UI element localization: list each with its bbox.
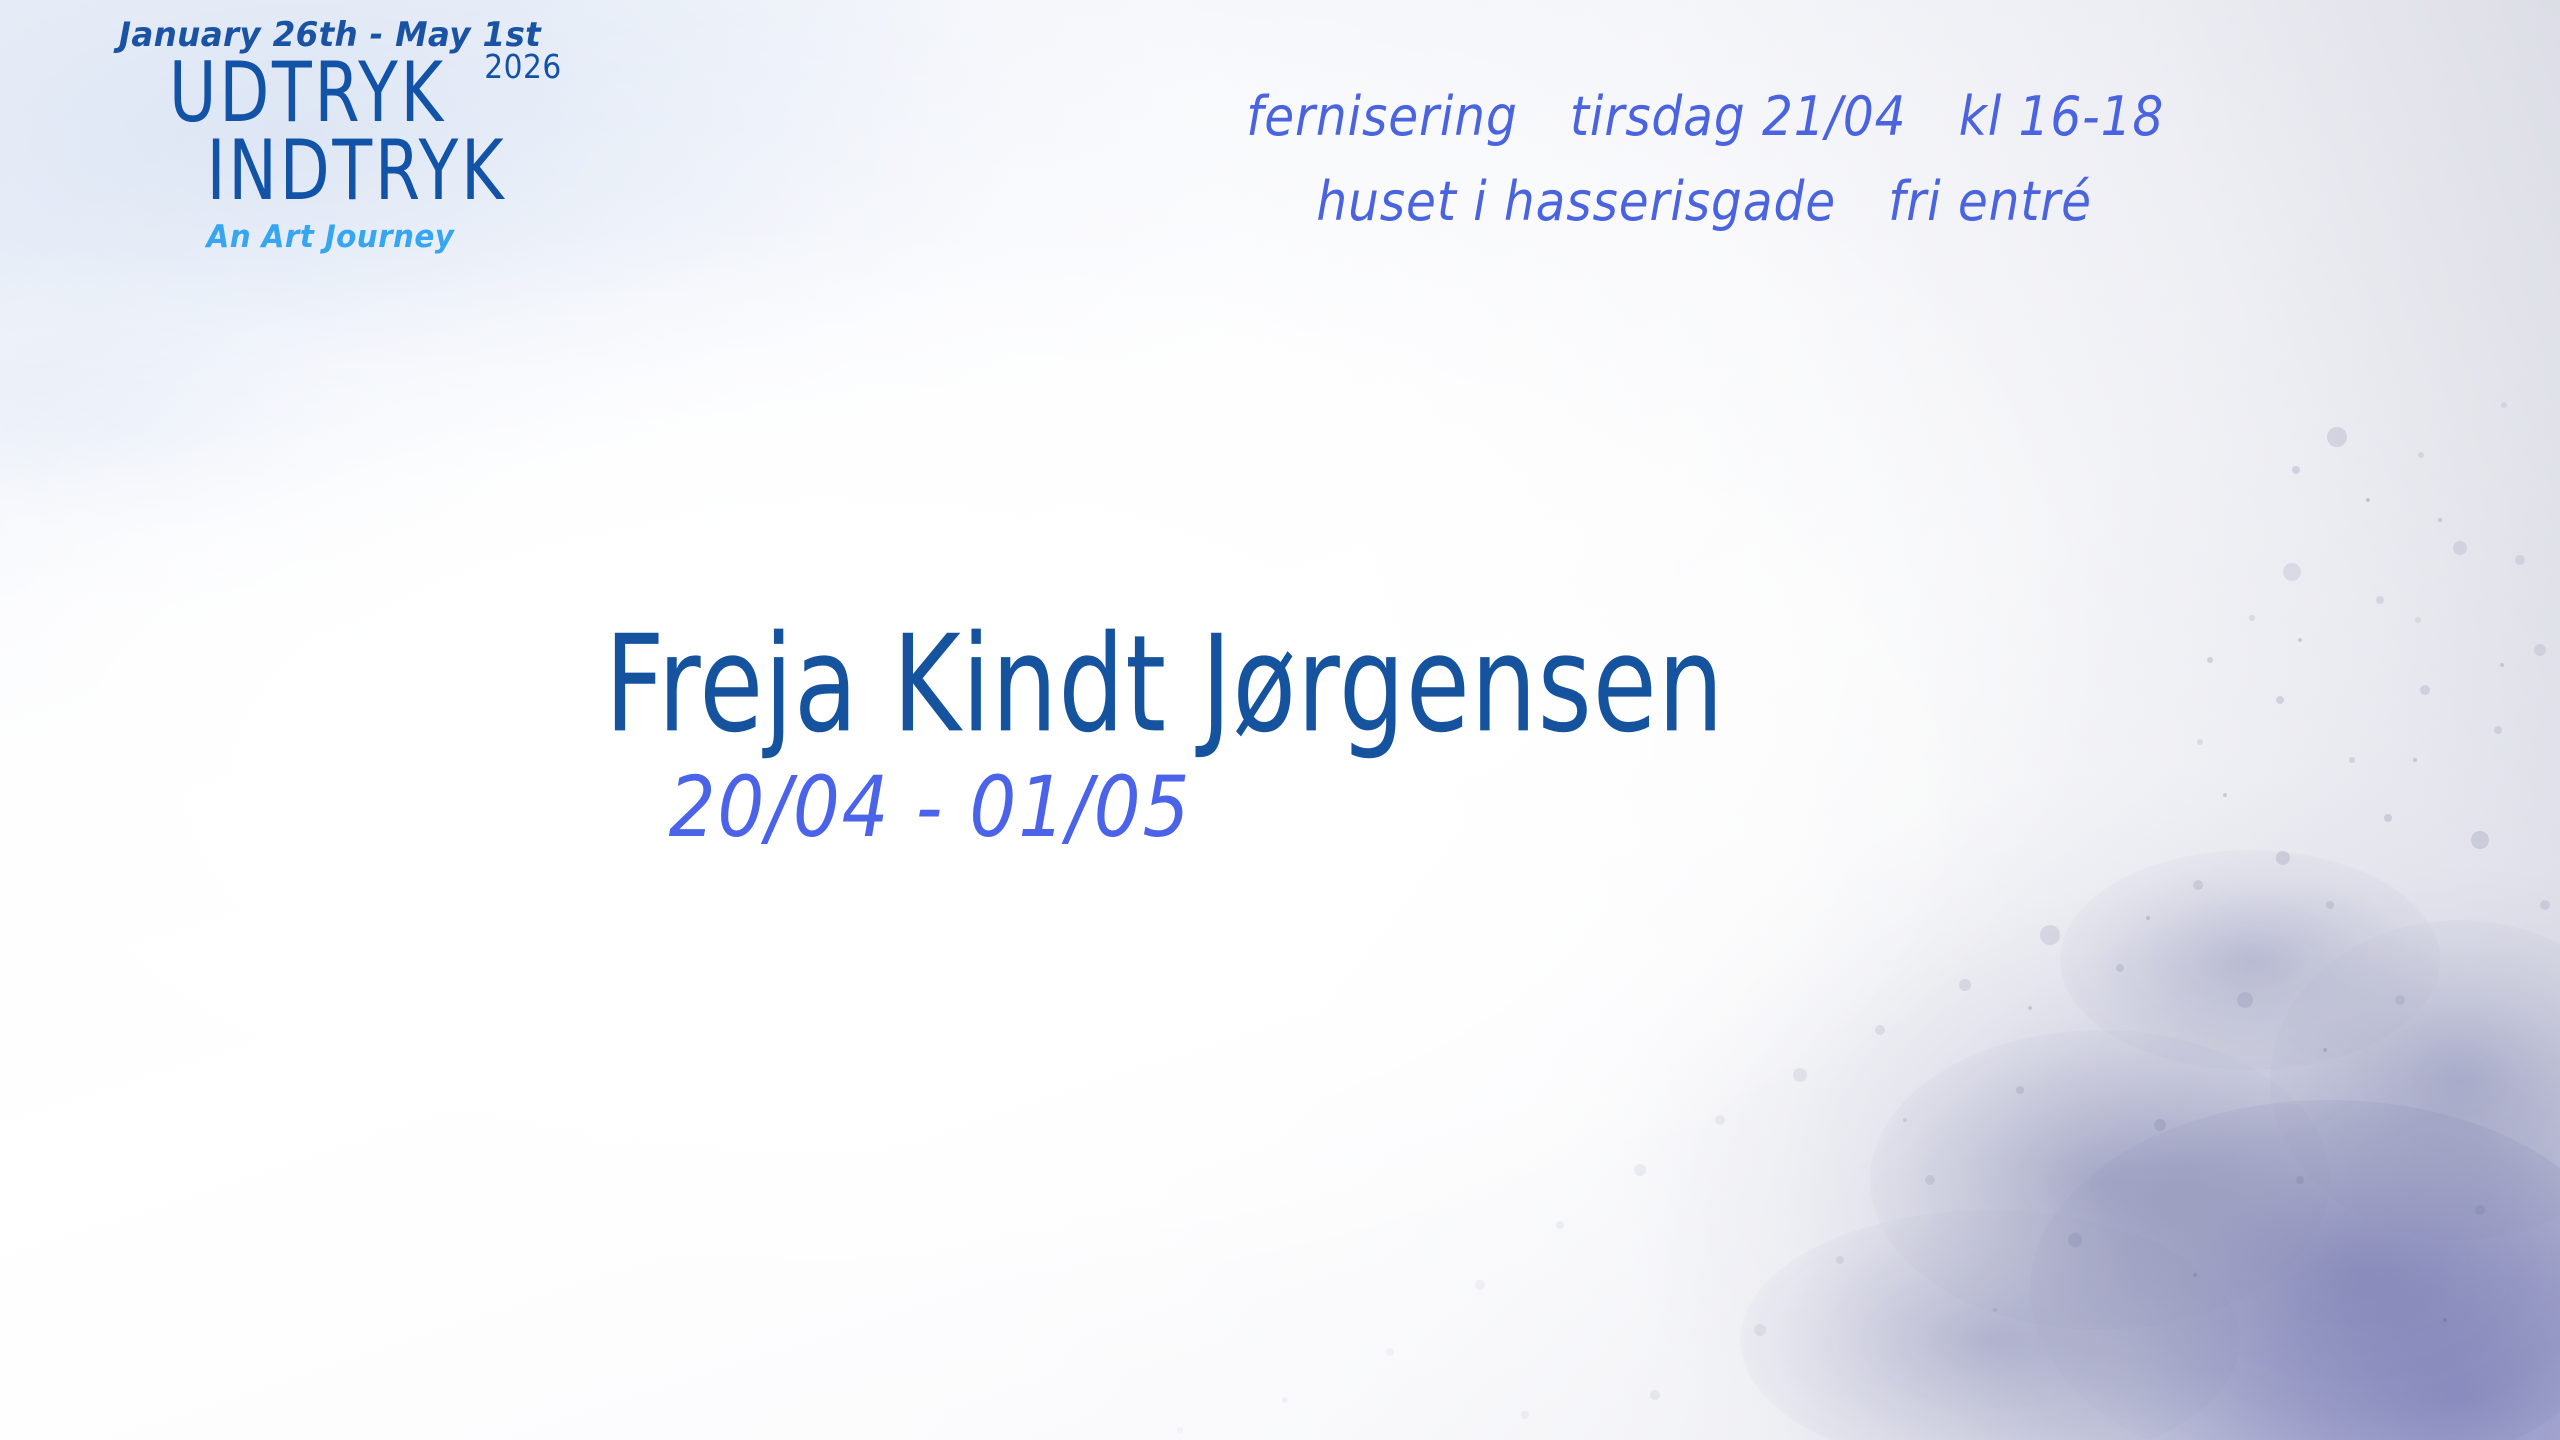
exhibition-year: 2026 xyxy=(484,50,561,83)
artist-exhibition-dates: 20/04 - 01/05 xyxy=(669,758,1192,856)
exhibition-tagline: An Art Journey xyxy=(206,222,454,253)
event-details: fernisering tirsdag 21/04 kl 16-18 huset… xyxy=(1230,82,2520,236)
wordmark-indtryk: INDTRYK xyxy=(206,130,506,213)
exhibition-poster: January 26th - May 1st UDTRYK 2026 INDTR… xyxy=(0,0,2560,1440)
event-venue: huset i hasserisgade xyxy=(1316,167,1836,236)
wordmark-bottom-row: INDTRYK xyxy=(50,134,610,208)
event-details-line-2: huset i hasserisgade fri entré xyxy=(1230,167,2391,236)
event-opening-time: kl 16-18 xyxy=(1959,82,2165,151)
artist-name: Freja Kindt Jørgensen xyxy=(605,615,1725,756)
event-opening-label: fernisering xyxy=(1246,82,1518,151)
wordmark-top-row: UDTRYK 2026 xyxy=(50,56,610,130)
event-details-line-1: fernisering tirsdag 21/04 kl 16-18 xyxy=(1230,82,2391,151)
event-admission: fri entré xyxy=(1888,167,2092,236)
artist-feature: Freja Kindt Jørgensen 20/04 - 01/05 xyxy=(0,620,2560,856)
exhibition-logo: January 26th - May 1st UDTRYK 2026 INDTR… xyxy=(50,18,610,253)
event-opening-day: tirsdag 21/04 xyxy=(1570,82,1907,151)
